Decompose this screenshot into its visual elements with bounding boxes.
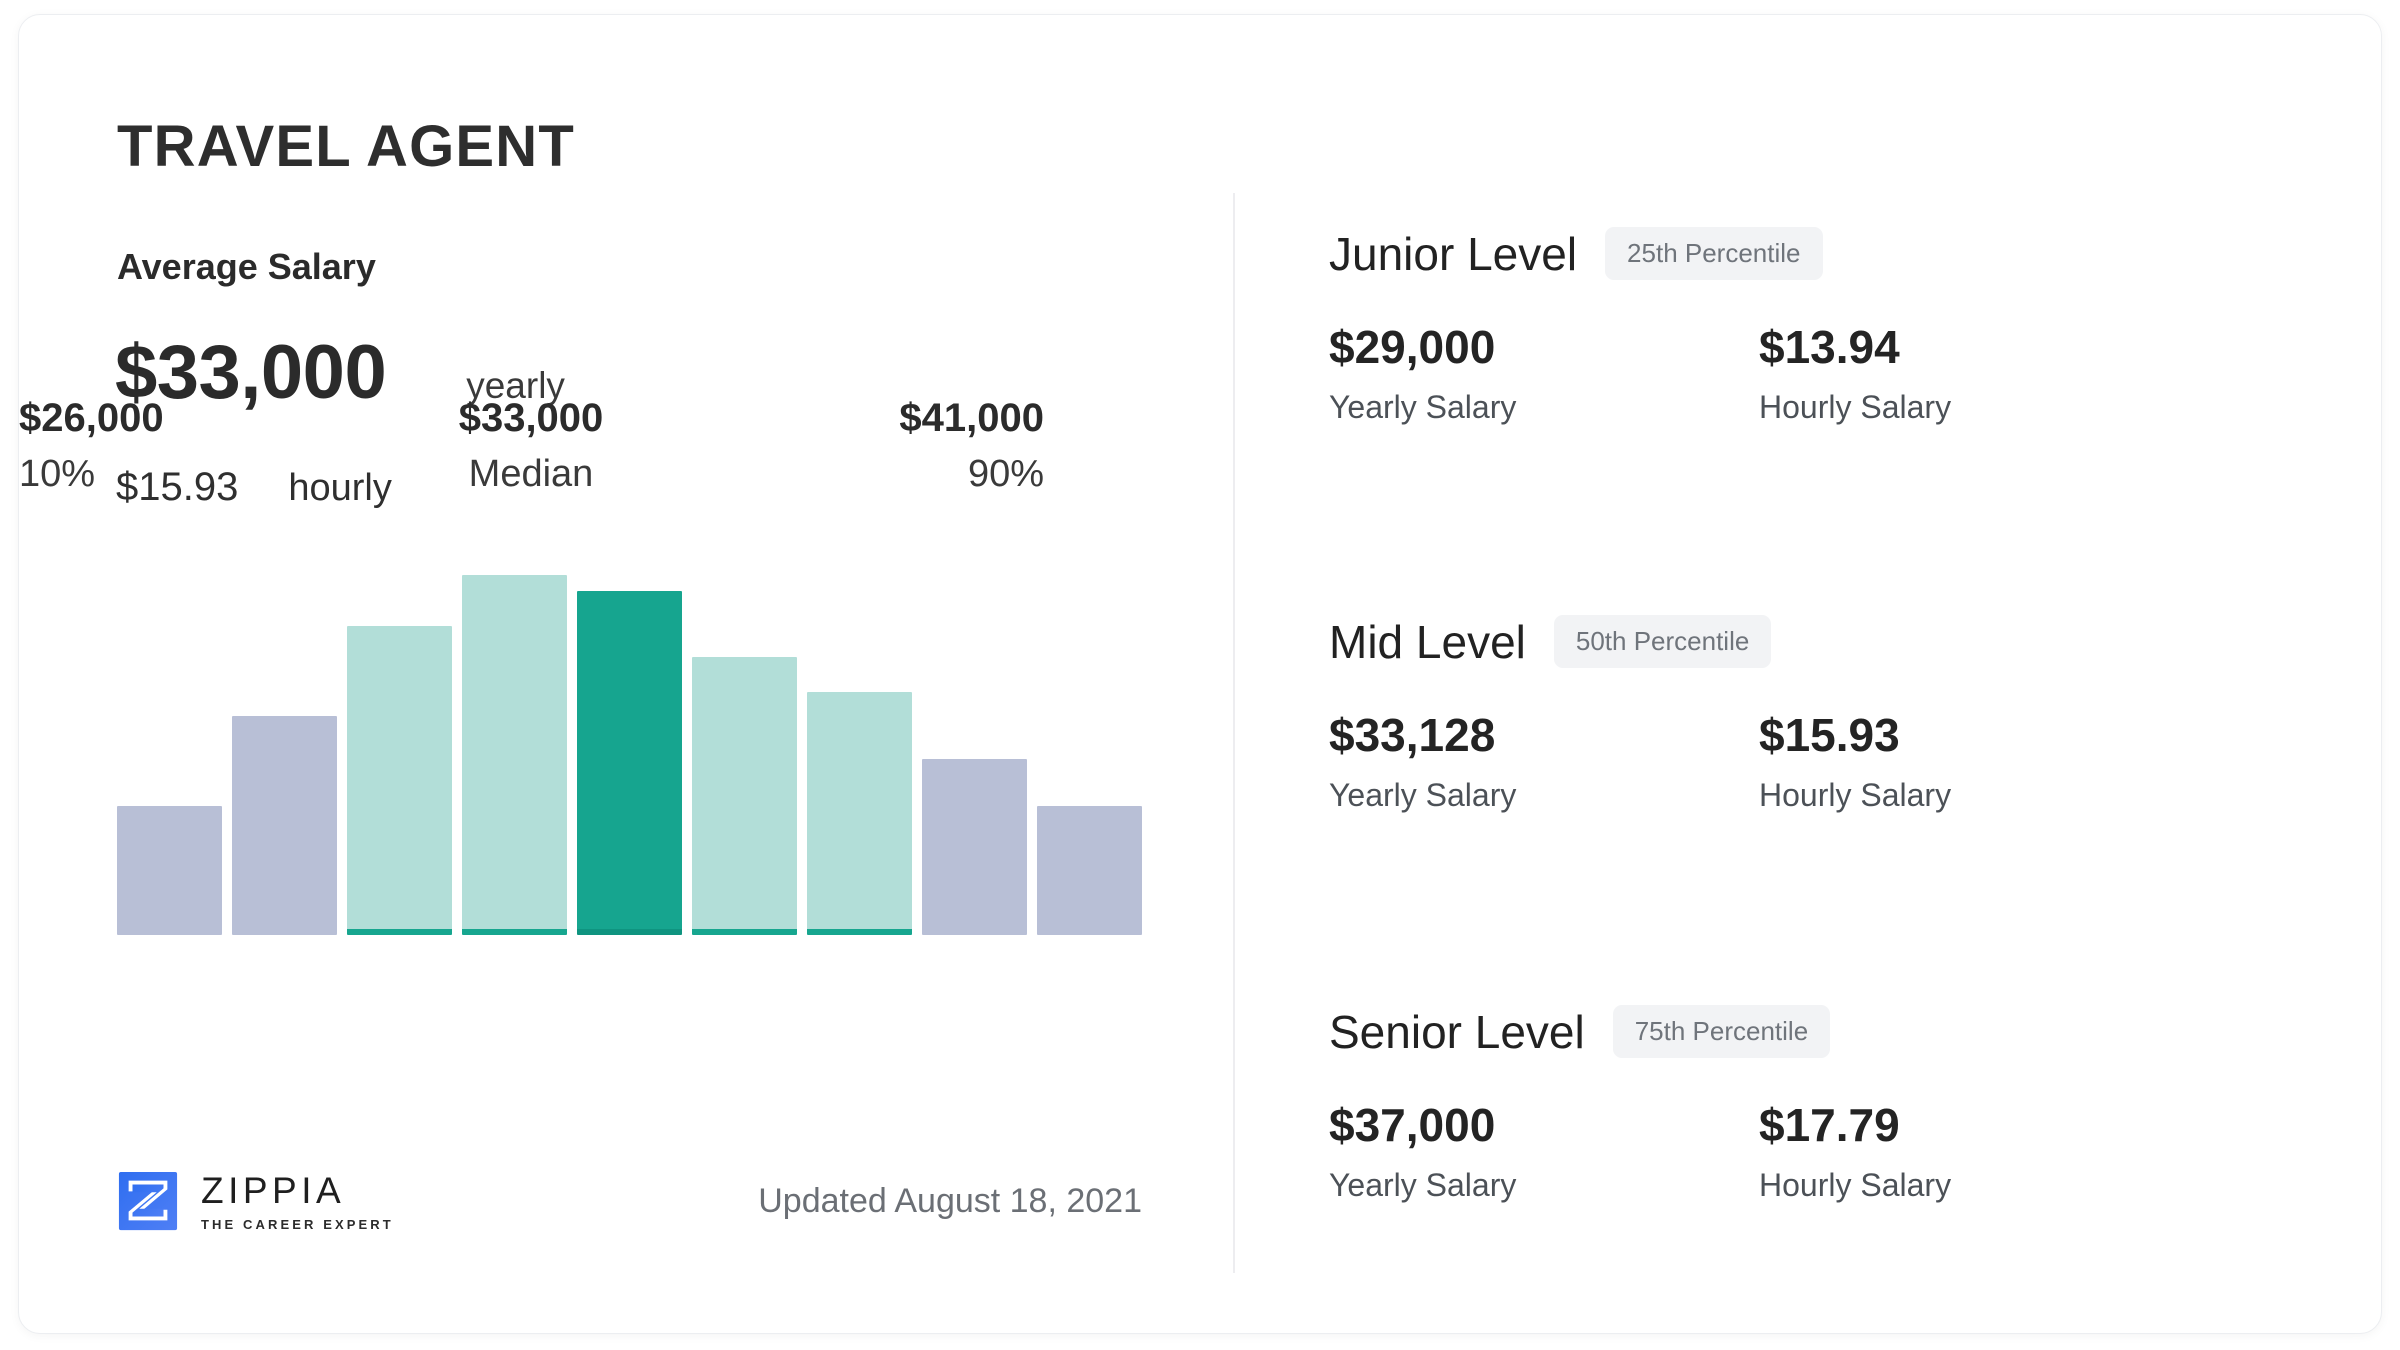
card-footer: ZIPPIA THE CAREER EXPERT Updated August … (117, 1170, 1142, 1232)
bar-rect (577, 591, 682, 935)
brand-tagline: THE CAREER EXPERT (201, 1218, 394, 1231)
chart-bar-7 (807, 575, 912, 935)
level-title: Senior Level (1329, 1009, 1585, 1055)
salary-card: TRAVEL AGENT Average Salary $33,000 year… (18, 14, 2382, 1334)
salary-distribution-chart (117, 575, 1142, 935)
level-stats: $33,128Yearly Salary$15.93Hourly Salary (1329, 712, 2382, 811)
salary-summary-panel: TRAVEL AGENT Average Salary $33,000 year… (19, 15, 1234, 1333)
hourly-salary-label: Hourly Salary (1759, 1169, 2189, 1201)
chart-bar-3 (347, 575, 452, 935)
chart-bar-6 (692, 575, 797, 935)
percentile-badge: 50th Percentile (1554, 615, 1771, 668)
bar-rect (462, 575, 567, 935)
experience-levels-panel: Junior Level25th Percentile$29,000Yearly… (1329, 15, 2382, 1333)
hourly-salary-label: Hourly Salary (1759, 779, 2189, 811)
yearly-salary-label: Yearly Salary (1329, 391, 1759, 423)
chart-label-group-3: $41,00090% (714, 395, 1044, 498)
chart-bar-2 (232, 575, 337, 935)
yearly-salary-label: Yearly Salary (1329, 779, 1759, 811)
chart-bar-4 (462, 575, 567, 935)
updated-date: Updated August 18, 2021 (758, 1184, 1142, 1218)
chart-axis-labels: $26,00010%$33,000Median$41,00090% (19, 395, 1044, 535)
yearly-salary-label: Yearly Salary (1329, 1169, 1759, 1201)
chart-label-sub: 90% (714, 452, 1044, 498)
level-header: Mid Level50th Percentile (1329, 615, 2382, 668)
average-salary-label: Average Salary (117, 249, 376, 285)
chart-label-sub: Median (366, 452, 696, 498)
hourly-salary-value: $17.79 (1759, 1102, 2189, 1148)
brand-name: ZIPPIA (201, 1172, 394, 1209)
bar-rect (807, 692, 912, 935)
hourly-salary-stat: $13.94Hourly Salary (1759, 324, 2189, 423)
level-title: Junior Level (1329, 231, 1577, 277)
hourly-salary-stat: $17.79Hourly Salary (1759, 1102, 2189, 1201)
level-stats: $37,000Yearly Salary$17.79Hourly Salary (1329, 1102, 2382, 1201)
zippia-wordmark: ZIPPIA THE CAREER EXPERT (201, 1172, 394, 1231)
chart-label-amount: $41,000 (714, 395, 1044, 442)
level-header: Senior Level75th Percentile (1329, 1005, 2382, 1058)
hourly-salary-stat: $15.93Hourly Salary (1759, 712, 2189, 811)
chart-label-amount: $26,000 (19, 395, 349, 442)
level-section-senior-level: Senior Level75th Percentile$37,000Yearly… (1329, 1005, 2382, 1201)
bar-rect (692, 657, 797, 935)
level-section-junior-level: Junior Level25th Percentile$29,000Yearly… (1329, 227, 2382, 423)
bar-rect (347, 626, 452, 935)
yearly-salary-stat: $37,000Yearly Salary (1329, 1102, 1759, 1201)
yearly-salary-stat: $33,128Yearly Salary (1329, 712, 1759, 811)
level-stats: $29,000Yearly Salary$13.94Hourly Salary (1329, 324, 2382, 423)
yearly-salary-value: $33,128 (1329, 712, 1759, 758)
chart-bar-9 (1037, 575, 1142, 935)
chart-bars (117, 575, 1142, 935)
bar-rect (117, 806, 222, 935)
yearly-salary-value: $29,000 (1329, 324, 1759, 370)
hourly-salary-value: $13.94 (1759, 324, 2189, 370)
chart-bar-1 (117, 575, 222, 935)
chart-label-amount: $33,000 (366, 395, 696, 442)
page-title: TRAVEL AGENT (117, 118, 575, 176)
bar-rect (922, 759, 1027, 935)
level-section-mid-level: Mid Level50th Percentile$33,128Yearly Sa… (1329, 615, 2382, 811)
hourly-salary-value: $15.93 (1759, 712, 2189, 758)
hourly-salary-label: Hourly Salary (1759, 391, 2189, 423)
percentile-badge: 25th Percentile (1605, 227, 1822, 280)
level-title: Mid Level (1329, 619, 1526, 665)
chart-label-group-2: $33,000Median (366, 395, 696, 498)
zippia-logo: ZIPPIA THE CAREER EXPERT (117, 1170, 394, 1232)
chart-bar-5 (577, 575, 682, 935)
panel-divider (1233, 193, 1235, 1273)
chart-label-sub: 10% (19, 452, 349, 498)
bar-rect (1037, 806, 1142, 935)
yearly-salary-stat: $29,000Yearly Salary (1329, 324, 1759, 423)
percentile-badge: 75th Percentile (1613, 1005, 1830, 1058)
zippia-z-icon (117, 1170, 179, 1232)
yearly-salary-value: $37,000 (1329, 1102, 1759, 1148)
bar-rect (232, 716, 337, 935)
chart-bar-8 (922, 575, 1027, 935)
level-header: Junior Level25th Percentile (1329, 227, 2382, 280)
chart-label-group-1: $26,00010% (19, 395, 349, 498)
